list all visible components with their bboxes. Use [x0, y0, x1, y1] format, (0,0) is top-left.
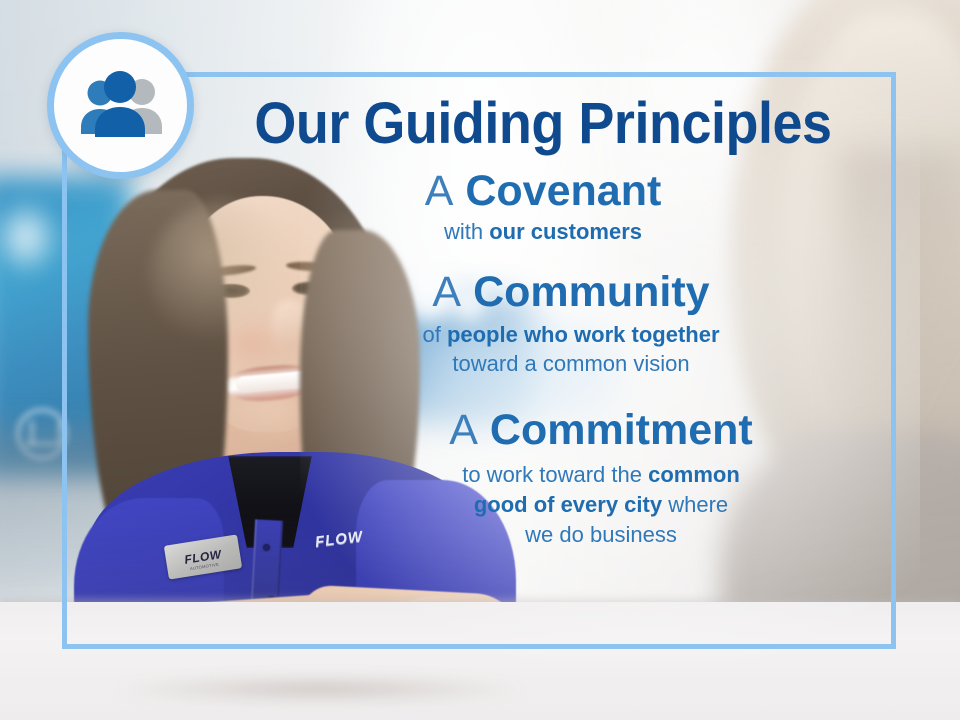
- principle-covenant: A Covenant with our customers: [190, 167, 896, 246]
- principle-keyword: Community: [473, 268, 710, 316]
- subtext-run: to work toward the: [462, 462, 648, 487]
- principle-commitment: A Commitment to work toward the common g…: [190, 406, 896, 550]
- subtext-run-bold: people who work together: [447, 322, 720, 347]
- people-group-icon: [73, 71, 169, 141]
- subtext-run: of: [422, 322, 446, 347]
- principle-article: A: [449, 406, 478, 454]
- principle-keyword: Covenant: [465, 167, 661, 215]
- people-group-badge: [47, 32, 194, 179]
- subtext-line: we do business: [306, 520, 896, 550]
- subtext-line: with our customers: [444, 219, 642, 244]
- principle-heading: A Community: [246, 268, 896, 316]
- guiding-principles-graphic: FLOW AUTOMOTIVE FLOW: [0, 0, 960, 720]
- subtext-line: good of every city where: [306, 490, 896, 520]
- subtext-run: where: [662, 492, 728, 517]
- principle-subtext: with our customers: [190, 217, 896, 246]
- text-column: Our Guiding Principles A Covenant with o…: [190, 78, 896, 644]
- subtext-line: to work toward the common: [306, 460, 896, 490]
- principle-article: A: [432, 268, 461, 316]
- page-title: Our Guiding Principles: [215, 94, 872, 155]
- principle-subtext: of people who work together toward a com…: [246, 320, 896, 378]
- subtext-run-bold: common: [648, 462, 740, 487]
- principle-community: A Community of people who work together …: [190, 268, 896, 378]
- principle-subtext: to work toward the common good of every …: [306, 460, 896, 550]
- principle-heading: A Commitment: [306, 406, 896, 454]
- principle-article: A: [425, 167, 454, 215]
- principle-keyword: Commitment: [490, 406, 753, 454]
- subtext-run: with: [444, 219, 489, 244]
- arm-contact-shadow: [110, 676, 530, 702]
- principle-heading: A Covenant: [190, 167, 896, 215]
- subtext-line: of people who work together: [246, 320, 896, 349]
- subtext-line: toward a common vision: [246, 349, 896, 378]
- subtext-run-bold: good of every city: [474, 492, 662, 517]
- subtext-run-bold: our customers: [489, 219, 642, 244]
